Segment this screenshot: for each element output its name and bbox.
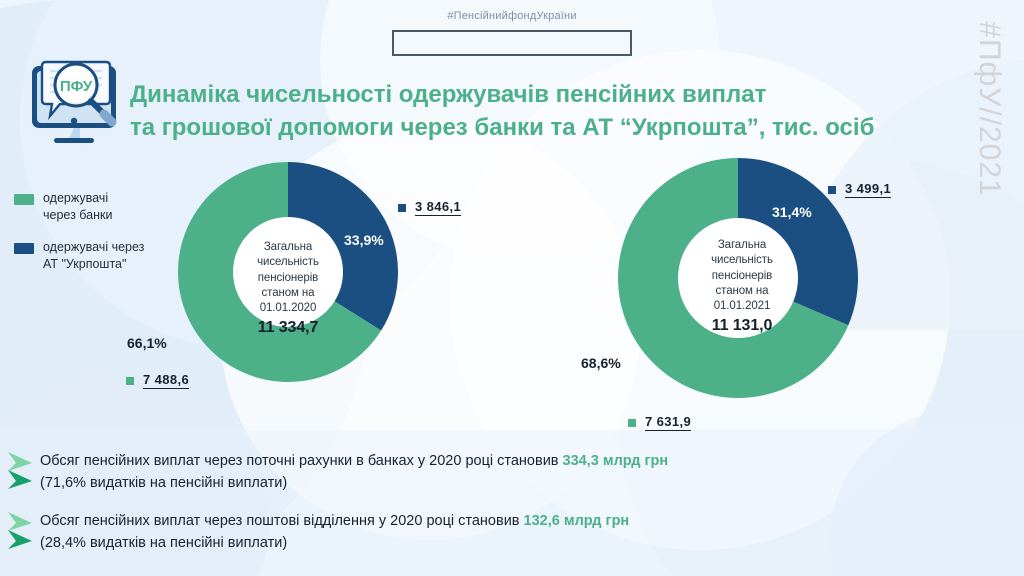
top-frame-box <box>392 30 632 56</box>
legend-item-banks: одержувачі через банки <box>14 190 144 223</box>
chevron-right-icon <box>6 510 40 554</box>
value-marker-green-icon <box>126 377 134 385</box>
footnote-banks: Обсяг пенсійних виплат через поточні рах… <box>0 448 1024 494</box>
value-marker-green-icon <box>628 419 636 427</box>
footnotes: Обсяг пенсійних виплат через поточні рах… <box>0 448 1024 568</box>
value-callout-ukrposhta-2021: 3 499,1 <box>828 181 891 198</box>
legend-swatch-blue-icon <box>14 243 34 254</box>
footnote-post-amount: 132,6 млрд грн <box>524 513 630 529</box>
value-callout-ukrposhta-2020: 3 846,1 <box>398 199 461 216</box>
pct-label-ukrposhta-2020: 33,9% <box>344 232 384 248</box>
value-marker-blue-icon <box>828 186 836 194</box>
donut-total-2021: 11 131,0 <box>672 315 812 336</box>
page-title: Динаміка чисельності одержувачів пенсійн… <box>130 78 940 144</box>
footnote-banks-amount: 334,3 млрд грн <box>563 453 669 469</box>
chevron-right-icon <box>6 450 40 494</box>
pfu-logo-icon: ПФУ <box>18 52 130 158</box>
legend-swatch-green-icon <box>14 194 34 205</box>
value-callout-banks-2021: 7 631,9 <box>628 414 691 431</box>
footnote-post: Обсяг пенсійних виплат через поштові від… <box>0 508 1024 554</box>
pct-label-banks-2020: 66,1% <box>127 335 167 351</box>
footnote-post-text: Обсяг пенсійних виплат через поштові від… <box>40 508 629 554</box>
value-marker-blue-icon <box>398 204 406 212</box>
vertical-hashtag: #ПфУ//2021 <box>972 4 1006 214</box>
top-hashtag: #ПенсійнийфондУкраїни <box>0 10 1024 22</box>
footnote-banks-text: Обсяг пенсійних виплат через поточні рах… <box>40 448 668 494</box>
chart-legend: одержувачі через банки одержувачі через … <box>14 190 144 288</box>
donut-center-text-2020: Загальна чисельність пенсіонерів станом … <box>218 240 358 339</box>
title-line-1: Динаміка чисельності одержувачів пенсійн… <box>130 81 766 108</box>
footnote-banks-sub: (71,6% видатків на пенсійні виплати) <box>40 472 668 494</box>
legend-item-ukrposhta: одержувачі через АТ "Укрпошта" <box>14 239 144 272</box>
value-callout-banks-2020: 7 488,6 <box>126 372 189 389</box>
title-line-2: та грошової допомоги через банки та АТ “… <box>130 111 940 144</box>
pct-label-ukrposhta-2021: 31,4% <box>772 204 812 220</box>
pct-label-banks-2021: 68,6% <box>581 355 621 371</box>
logo-label: ПФУ <box>60 78 93 95</box>
donut-total-2020: 11 334,7 <box>218 317 358 338</box>
footnote-post-sub: (28,4% видатків на пенсійні виплати) <box>40 532 629 554</box>
legend-label-banks: одержувачі через банки <box>43 190 112 223</box>
donut-center-text-2021: Загальна чисельність пенсіонерів станом … <box>672 238 812 337</box>
legend-label-ukrposhta: одержувачі через АТ "Укрпошта" <box>43 239 144 272</box>
